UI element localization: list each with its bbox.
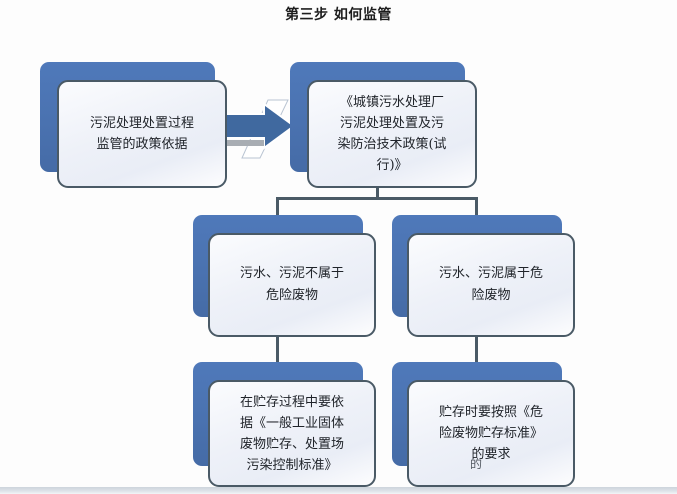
node-card: 污水、污泥不属于 危险废物 xyxy=(208,233,376,337)
node-label: 污泥处理处置过程 监管的政策依据 xyxy=(59,113,225,155)
page-title: 第三步 如何监管 xyxy=(0,6,677,24)
node-card: 污泥处理处置过程 监管的政策依据 xyxy=(57,80,227,188)
node-card: 污水、污泥属于危 险废物 xyxy=(407,233,575,337)
connector-level2-bus xyxy=(276,197,478,200)
node-policy-basis[interactable]: 污泥处理处置过程 监管的政策依据 xyxy=(40,62,215,172)
node-label: 污水、污泥不属于 危险废物 xyxy=(210,263,374,307)
node-hazardous-waste-storage[interactable]: 贮存时要按照《危 险废物贮存标准》 的要求 xyxy=(392,362,562,466)
node-card: 在贮存过程中要依 据《一般工业固体 废物贮存、处置场 污染控制标准》 xyxy=(208,380,376,487)
node-general-solid-waste-storage[interactable]: 在贮存过程中要依 据《一般工业固体 废物贮存、处置场 污染控制标准》 xyxy=(193,362,363,466)
bottom-page-strip xyxy=(0,487,677,494)
flow-arrow-right xyxy=(216,98,300,160)
node-label: 《城镇污水处理厂 污泥处理处置及污 染防治技术政策(试 行)》 xyxy=(309,92,475,176)
node-label: 在贮存过程中要依 据《一般工业固体 废物贮存、处置场 污染控制标准》 xyxy=(210,392,374,476)
node-label: 污水、污泥属于危 险废物 xyxy=(409,263,573,307)
stray-glyph-artifact: 的 xyxy=(446,455,506,472)
diagram-canvas: 第三步 如何监管 污泥处理处置过程 监管的政策依据 《城镇污水处理厂 污泥处理处… xyxy=(0,0,677,494)
node-is-hazardous-waste[interactable]: 污水、污泥属于危 险废物 xyxy=(392,215,562,317)
node-card: 《城镇污水处理厂 污泥处理处置及污 染防治技术政策(试 行)》 xyxy=(307,80,477,188)
node-tech-policy[interactable]: 《城镇污水处理厂 污泥处理处置及污 染防治技术政策(试 行)》 xyxy=(290,62,465,172)
node-not-hazardous-waste[interactable]: 污水、污泥不属于 危险废物 xyxy=(193,215,363,317)
